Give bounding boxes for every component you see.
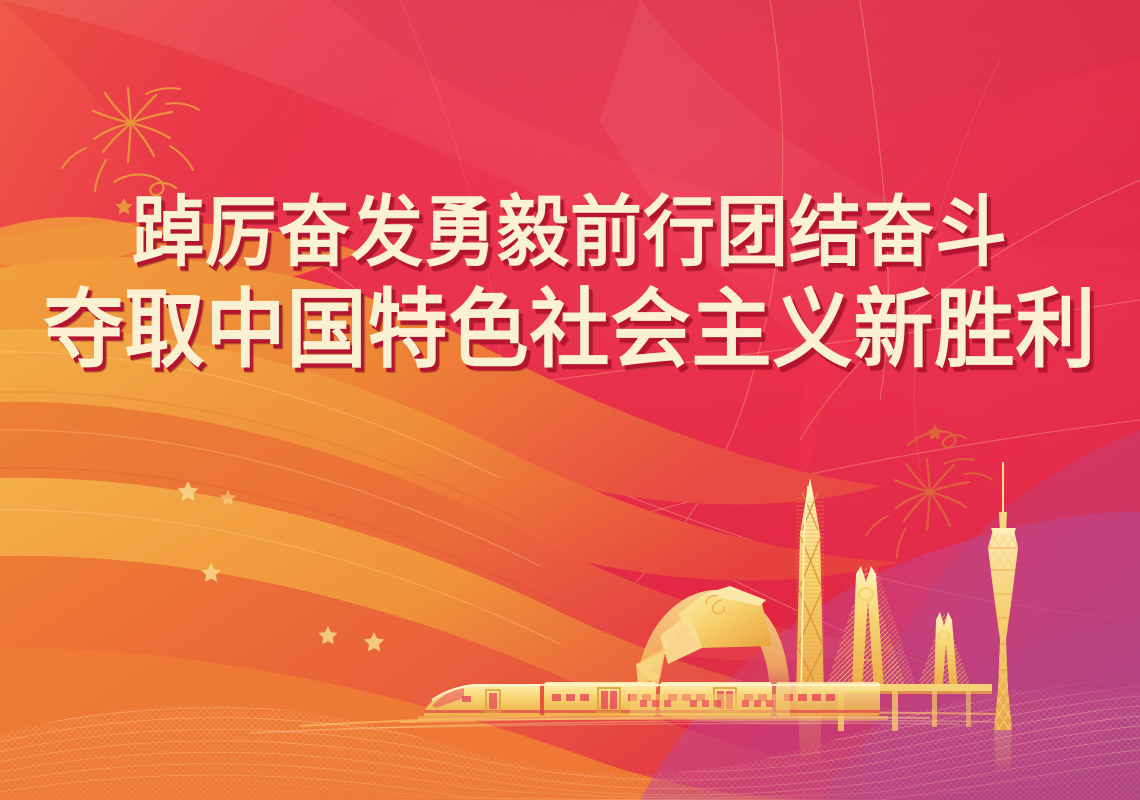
title-block: 踔厉奋发勇毅前行团结奋斗 夺取中国特色社会主义新胜利	[0, 196, 1140, 370]
title-line-2: 夺取中国特色社会主义新胜利	[0, 287, 1140, 373]
star-icon	[927, 424, 943, 440]
poster-canvas: 踔厉奋发勇毅前行团结奋斗 夺取中国特色社会主义新胜利	[0, 0, 1140, 800]
title-line-1: 踔厉奋发勇毅前行团结奋斗	[0, 193, 1140, 270]
firework-burst-mid-right	[866, 459, 992, 558]
decor-fireworks	[0, 0, 1140, 800]
